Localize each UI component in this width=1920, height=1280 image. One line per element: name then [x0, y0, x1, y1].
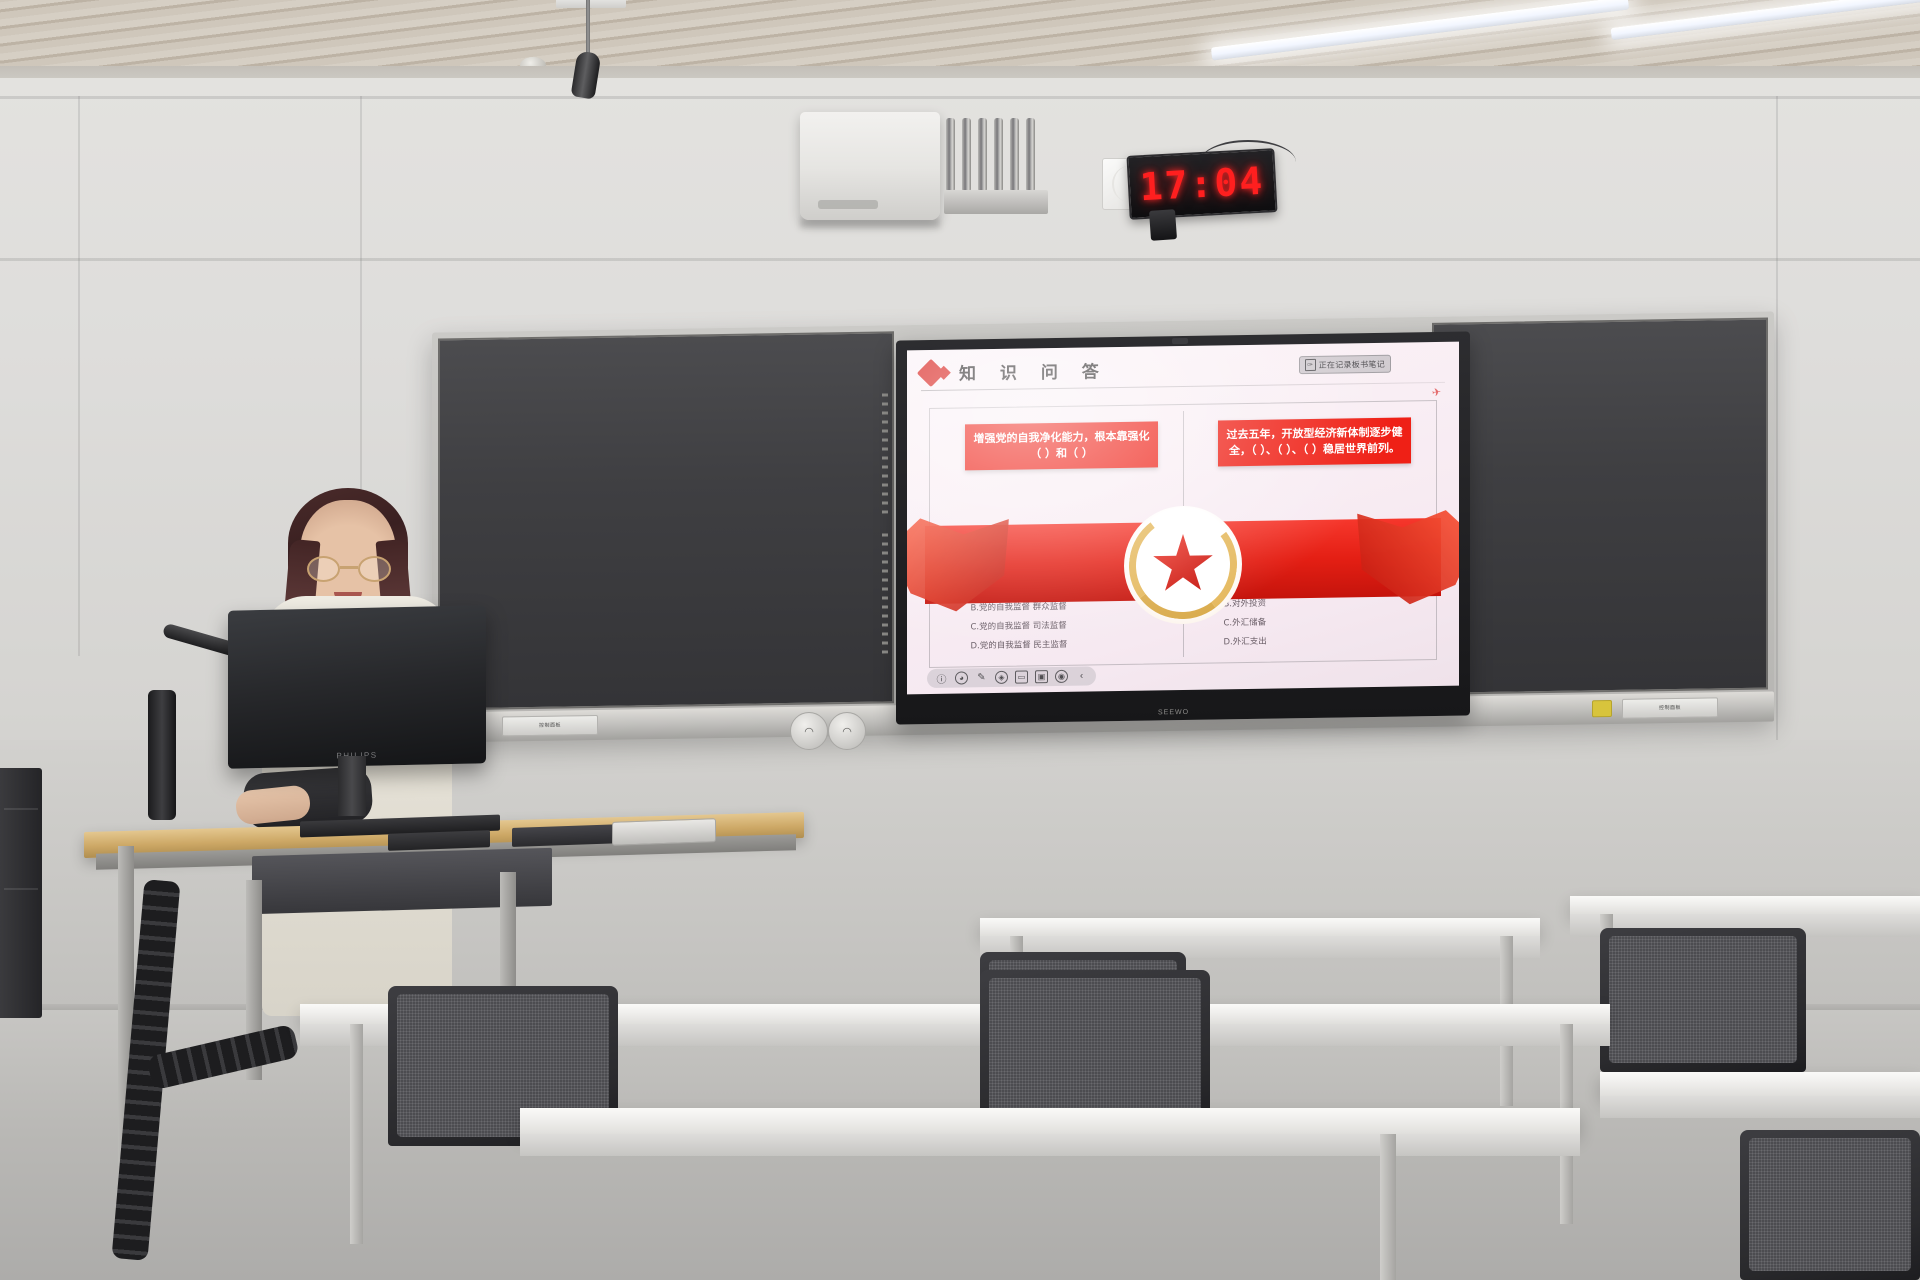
student-desk	[1570, 896, 1920, 914]
clock-time: 17:04	[1139, 159, 1266, 209]
antenna-icon	[994, 118, 1003, 192]
chair-mesh	[1749, 1138, 1911, 1271]
blackboard-left-panel	[438, 331, 894, 710]
glasses-lens-left	[307, 556, 340, 582]
panel-screen[interactable]: 知 识 问 答 ✑ 正在记录板书笔记 ✈ 增强党的自我净化能力，根本靠强化（ ）…	[907, 342, 1459, 695]
slide-title: 知 识 问 答	[959, 357, 1108, 384]
eraser-holder-icon[interactable]: ◠	[828, 712, 866, 750]
mic-ceiling-plate	[556, 0, 626, 8]
chair-mesh	[989, 978, 1201, 1126]
wall-seam-line	[0, 258, 1920, 261]
mic-rod	[586, 0, 590, 58]
slide-content: 知 识 问 答 ✑ 正在记录板书笔记 ✈ 增强党的自我净化能力，根本靠强化（ ）…	[907, 342, 1459, 695]
eraser-holder-icon[interactable]: ◠	[790, 712, 828, 750]
recording-badge[interactable]: ✑ 正在记录板书笔记	[1299, 355, 1391, 374]
cabinet-seam	[4, 808, 38, 810]
note-icon: ✑	[1305, 359, 1316, 371]
led-clock: 17:04	[1128, 152, 1276, 216]
teacher-monitor[interactable]: PHILIPS	[228, 605, 486, 768]
glasses-bridge	[340, 566, 358, 569]
antenna-icon	[1010, 118, 1019, 192]
info-icon[interactable]: ⓘ	[935, 672, 948, 685]
board-edge-dots	[882, 533, 888, 653]
antenna-icon	[962, 118, 971, 192]
recording-badge-text: 正在记录板书笔记	[1319, 358, 1385, 370]
chair-back	[1740, 1130, 1920, 1280]
board-control-panel-right[interactable]: 控制面板	[1622, 697, 1718, 719]
timer-icon[interactable]: ◕	[955, 671, 968, 684]
pen-icon[interactable]: ✎	[975, 671, 988, 684]
jammer-base	[944, 190, 1048, 214]
interactive-flat-panel[interactable]: 知 识 问 答 ✑ 正在记录板书笔记 ✈ 增强党的自我净化能力，根本靠强化（ ）…	[896, 331, 1470, 724]
classroom-scene: 17:04 控制面板 控制面板 ◠ ◠ 知 识 问 答	[0, 0, 1920, 1280]
board-warning-badge	[1592, 700, 1612, 717]
glasses-lens-right	[358, 556, 391, 582]
desk-front-panel	[520, 1134, 1580, 1156]
antenna-icon	[1026, 118, 1035, 192]
desk-front-panel	[1600, 1096, 1920, 1118]
monitor-stand	[338, 756, 366, 816]
target-icon[interactable]: ◈	[995, 671, 1008, 684]
blackboard-right-panel	[1432, 318, 1768, 695]
antenna-icon	[946, 118, 955, 192]
wall-seam-line	[1776, 96, 1778, 836]
signal-jammer	[944, 118, 1048, 214]
panel-camera-icon	[1172, 338, 1188, 344]
slide-header: 知 识 问 答 ✑ 正在记录板书笔记	[921, 352, 1445, 385]
question-right-prompt: 过去五年，开放型经济新体制逐步健全，（ ）、（ ）、（ ）稳居世界前列。	[1218, 417, 1410, 466]
student-chair[interactable]	[1600, 928, 1806, 1072]
side-cabinet	[0, 768, 42, 1018]
board-edge-dots	[882, 393, 888, 513]
wall-seam-line	[0, 96, 1920, 99]
diamond-icon	[917, 358, 945, 386]
comment-icon[interactable]: ▣	[1035, 670, 1048, 683]
desk-device-panel[interactable]	[388, 830, 490, 851]
record-icon[interactable]: ◉	[1055, 670, 1068, 683]
option-item[interactable]: D.党的自我监督 民主监督	[970, 634, 1167, 656]
chair-back	[1600, 928, 1806, 1072]
wall-camera-icon	[1149, 209, 1177, 241]
collapse-icon[interactable]: ‹	[1075, 669, 1088, 682]
desk-tablet[interactable]	[612, 818, 716, 846]
option-item[interactable]: D.外汇支出	[1223, 630, 1420, 652]
desk-leg	[1380, 1134, 1396, 1280]
cabinet-seam	[4, 888, 38, 890]
round-glasses-icon	[307, 556, 391, 582]
wall-seam-line	[78, 96, 80, 656]
ceiling-light-strip	[1610, 0, 1920, 40]
student-desk	[1600, 1072, 1920, 1096]
student-chair[interactable]	[1740, 1130, 1920, 1280]
bird-decoration-icon: ✈	[1431, 385, 1442, 399]
question-left-prompt: 增强党的自我净化能力，根本靠强化（ ）和（ ）	[965, 421, 1157, 470]
ceiling-light-strip	[1211, 0, 1629, 61]
clock-panel: 17:04	[1126, 148, 1277, 220]
desk-device-panel[interactable]	[512, 824, 624, 847]
window-icon[interactable]: ▭	[1015, 670, 1028, 683]
student-desk	[980, 918, 1540, 936]
antenna-icon	[978, 118, 987, 192]
slide-toolbar[interactable]: ⓘ ◕ ✎ ◈ ▭ ▣ ◉ ‹	[927, 666, 1096, 688]
wireless-access-point	[800, 112, 940, 220]
chair-mesh	[1609, 936, 1797, 1063]
student-desk	[520, 1108, 1580, 1134]
desk-leg	[350, 1024, 363, 1244]
board-control-panel-left[interactable]: 控制面板	[502, 715, 598, 737]
monitor-arm-post	[148, 690, 176, 820]
panel-brand-label: SEEWO	[1158, 709, 1189, 716]
